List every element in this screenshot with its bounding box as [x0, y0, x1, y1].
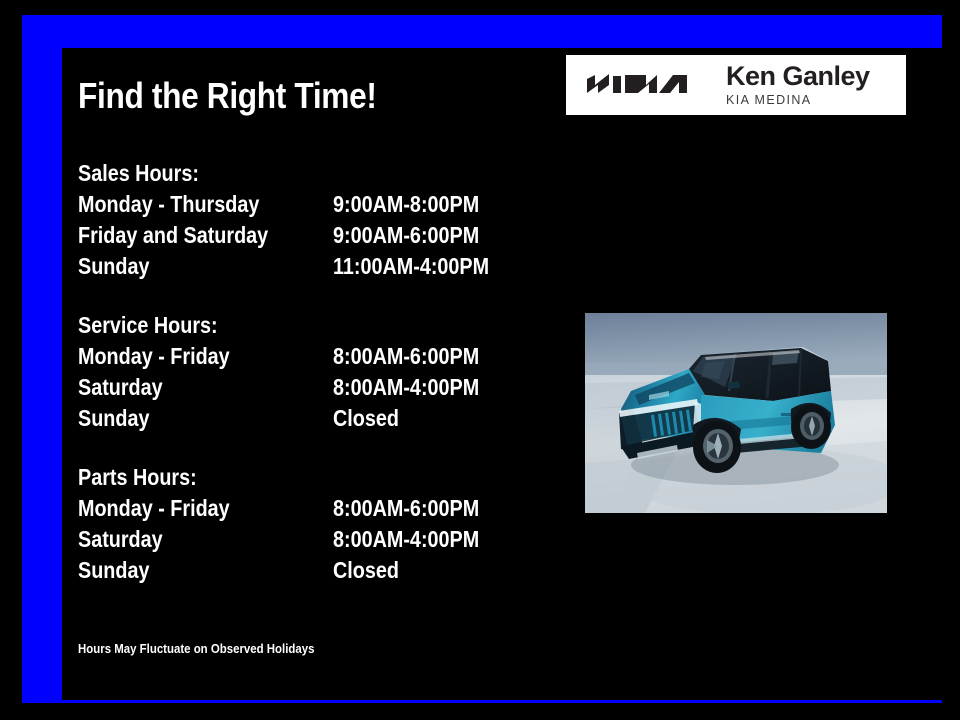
hours-time-value: 8:00AM-4:00PM	[333, 524, 479, 555]
hours-day-label: Monday - Friday	[78, 341, 230, 372]
hours-time-value: 8:00AM-6:00PM	[333, 341, 479, 372]
hours-day-label: Sunday	[78, 251, 149, 282]
hours-row: Saturday 8:00AM-4:00PM	[78, 524, 528, 555]
hours-day-label: Monday - Friday	[78, 493, 230, 524]
hours-day-label: Monday - Thursday	[78, 189, 259, 220]
dealer-name: Ken Ganley	[726, 63, 870, 90]
page-title: Find the Right Time!	[78, 78, 377, 114]
dealer-name-group: Ken Ganley KIA MEDINA	[726, 63, 870, 107]
hours-time-value: 8:00AM-6:00PM	[333, 493, 479, 524]
sales-hours-heading: Sales Hours:	[78, 158, 465, 189]
dealer-logo-plate: Ken Ganley KIA MEDINA	[566, 55, 906, 115]
hours-time-value: 9:00AM-8:00PM	[333, 189, 479, 220]
dealer-subtitle: KIA MEDINA	[726, 94, 870, 107]
hours-block-sales: Sales Hours: Monday - Thursday 9:00AM-8:…	[78, 158, 528, 282]
hours-day-label: Sunday	[78, 403, 149, 434]
hours-block-service: Service Hours: Monday - Friday 8:00AM-6:…	[78, 310, 528, 434]
hours-day-label: Friday and Saturday	[78, 220, 268, 251]
service-hours-heading: Service Hours:	[78, 310, 465, 341]
hours-row: Saturday 8:00AM-4:00PM	[78, 372, 528, 403]
hours-time-value: 8:00AM-4:00PM	[333, 372, 479, 403]
hours-time-value: Closed	[333, 555, 399, 586]
hours-row: Monday - Friday 8:00AM-6:00PM	[78, 341, 528, 372]
hours-row: Sunday 11:00AM-4:00PM	[78, 251, 528, 282]
vehicle-photo	[585, 313, 887, 513]
slide-canvas: Find the Right Time! Sales Hours: Monday…	[0, 0, 960, 720]
holiday-disclaimer: Hours May Fluctuate on Observed Holidays	[78, 641, 314, 656]
hours-row: Sunday Closed	[78, 403, 528, 434]
hours-day-label: Sunday	[78, 555, 149, 586]
hours-day-label: Saturday	[78, 524, 163, 555]
hours-time-value: 9:00AM-6:00PM	[333, 220, 479, 251]
hours-row: Monday - Friday 8:00AM-6:00PM	[78, 493, 528, 524]
hours-row: Monday - Thursday 9:00AM-8:00PM	[78, 189, 528, 220]
hours-day-label: Saturday	[78, 372, 163, 403]
parts-hours-heading: Parts Hours:	[78, 462, 465, 493]
hours-row: Sunday Closed	[78, 555, 528, 586]
hours-time-value: 11:00AM-4:00PM	[333, 251, 489, 282]
kia-logo-icon	[584, 70, 704, 100]
hours-block-parts: Parts Hours: Monday - Friday 8:00AM-6:00…	[78, 462, 528, 586]
hours-time-value: Closed	[333, 403, 399, 434]
hours-row: Friday and Saturday 9:00AM-6:00PM	[78, 220, 528, 251]
